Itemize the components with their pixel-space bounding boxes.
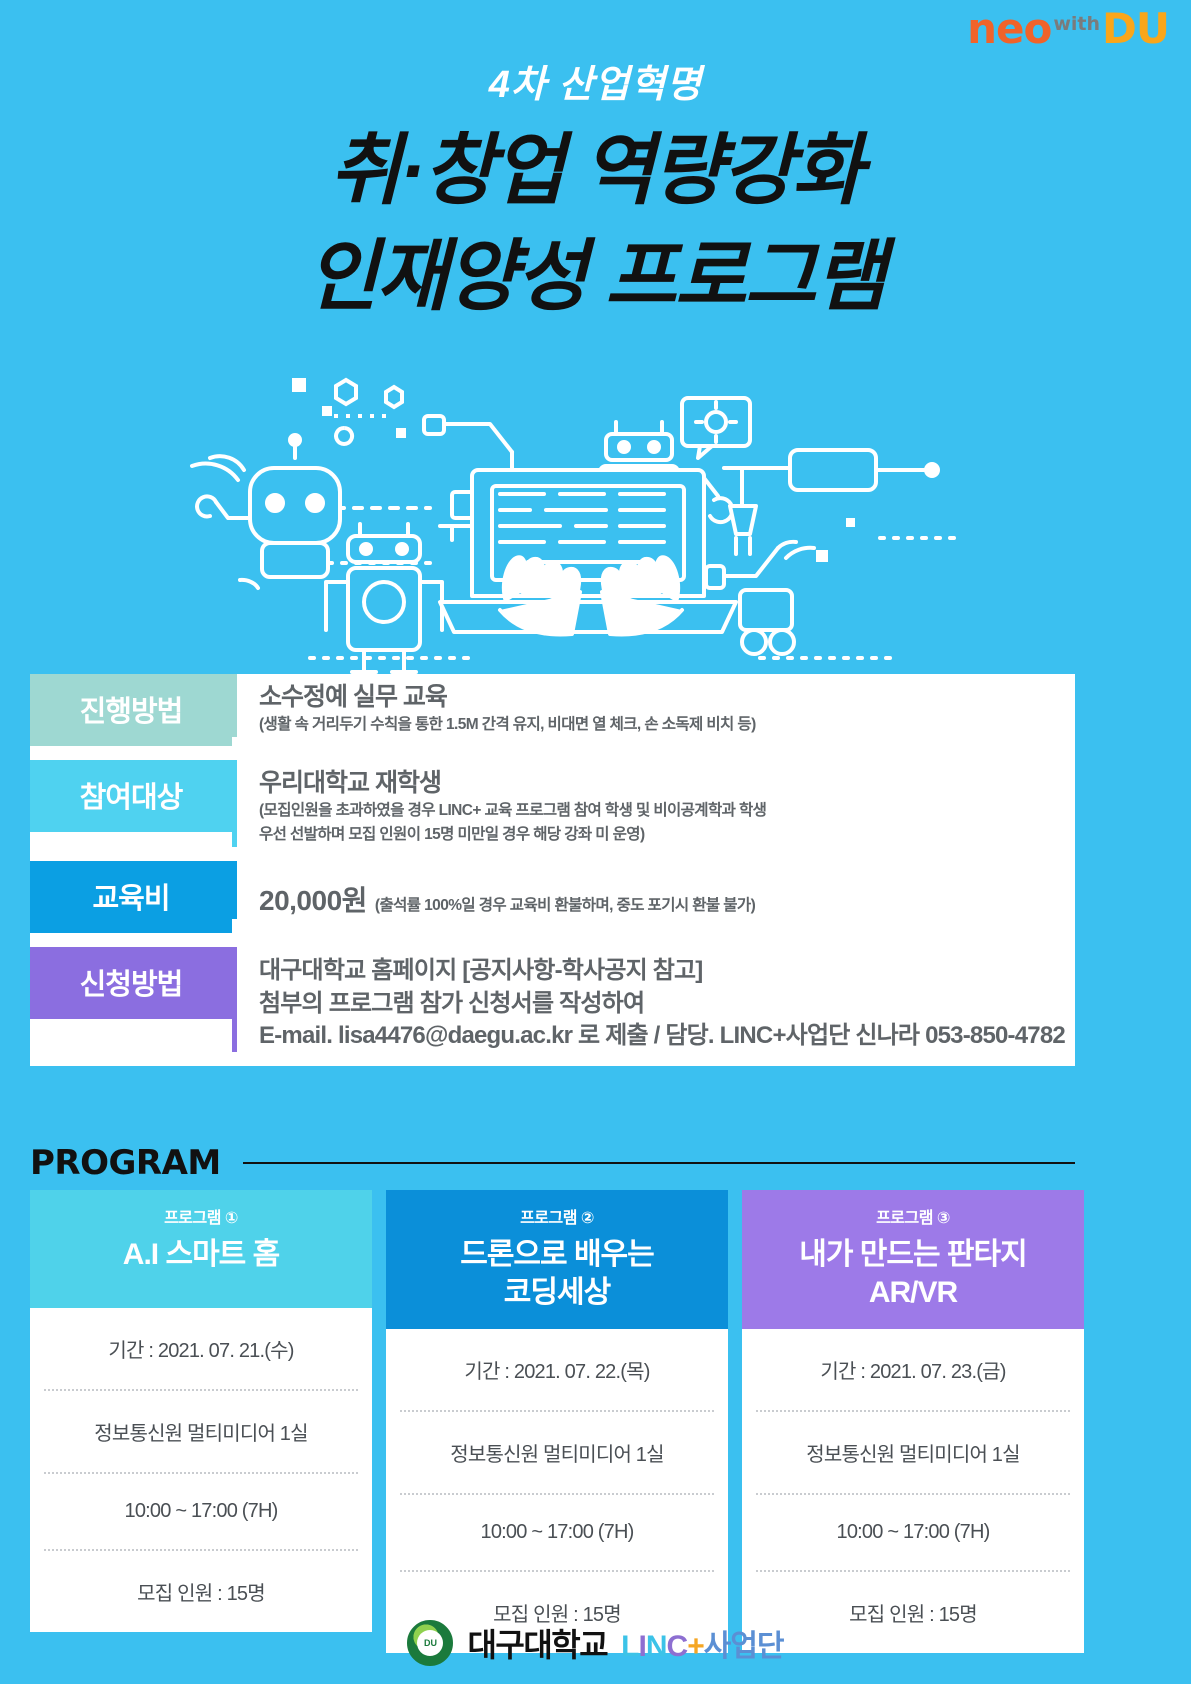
- program-card-2-title-line2: 코딩세상: [392, 1274, 722, 1312]
- info-label-target: 참여대상: [30, 760, 232, 832]
- program-heading: PROGRAM: [30, 1143, 221, 1183]
- logo-du-text: DU: [1102, 8, 1169, 50]
- info-title-target: 우리대학교 재학생: [259, 768, 1075, 799]
- neo-with-du-logo: neo with DU: [967, 8, 1169, 50]
- robotics-illustration: [0, 358, 1191, 678]
- info-title-method: 소수정예 실무 교육: [259, 682, 1075, 713]
- program-card-3-location: 정보통신원 멀티미디어 1실: [756, 1412, 1070, 1495]
- fee-line: 20,000원 (출석률 100%일 경우 교육비 환불하며, 중도 포기시 환…: [259, 879, 1075, 919]
- program-card-1-time: 10:00 ~ 17:00 (7H): [44, 1474, 358, 1551]
- footer-linc-logo: LINC+사업단: [621, 1621, 783, 1665]
- info-body-method: 소수정예 실무 교육 (생활 속 거리두기 수칙을 통한 1.5M 간격 유지,…: [232, 674, 1075, 737]
- program-card-1-head: 프로그램 ① A.I 스마트 홈: [30, 1190, 372, 1308]
- program-card-1-body: 기간 : 2021. 07. 21.(수) 정보통신원 멀티미디어 1실 10:…: [30, 1308, 372, 1632]
- poster-kicker: 4차 산업혁명: [0, 66, 1191, 104]
- program-card-2-location: 정보통신원 멀티미디어 1실: [400, 1412, 714, 1495]
- linc-letter-plus: +: [687, 1630, 704, 1663]
- info-row-target: 참여대상 우리대학교 재학생 (모집인원을 초과하였을 경우 LINC+ 교육 …: [30, 760, 1075, 847]
- row-spacer-3: [30, 933, 1075, 947]
- row-spacer-1: [30, 746, 1075, 760]
- footer-university-name: 대구대학교: [467, 1620, 607, 1666]
- program-card-2-time: 10:00 ~ 17:00 (7H): [400, 1495, 714, 1572]
- poster-headline-1: 취·창업 역량강화: [0, 130, 1191, 212]
- info-row-fee: 교육비 20,000원 (출석률 100%일 경우 교육비 환불하며, 중도 포…: [30, 861, 1075, 933]
- program-card-3-time: 10:00 ~ 17:00 (7H): [756, 1495, 1070, 1572]
- program-card-3-head: 프로그램 ③ 내가 만드는 판타지 AR/VR: [742, 1190, 1084, 1329]
- info-sub-target-1: (모집인원을 초과하였을 경우 LINC+ 교육 프로그램 참여 학생 및 비이…: [259, 799, 1075, 823]
- info-row-apply: 신청방법 대구대학교 홈페이지 [공지사항-학사공지 참고] 첨부의 프로그램 …: [30, 947, 1075, 1052]
- poster-headline-2: 인재양성 프로그램: [0, 236, 1191, 318]
- linc-letter-l: L: [621, 1630, 638, 1663]
- linc-letter-i: I: [639, 1630, 646, 1663]
- program-card-3-title: 내가 만드는 판타지 AR/VR: [748, 1236, 1078, 1311]
- linc-letter-n: N: [646, 1630, 667, 1663]
- program-card-2[interactable]: 프로그램 ② 드론으로 배우는 코딩세상 기간 : 2021. 07. 22.(…: [386, 1190, 728, 1653]
- fee-amount: 20,000원: [259, 879, 367, 919]
- info-body-fee: 20,000원 (출석률 100%일 경우 교육비 환불하며, 중도 포기시 환…: [232, 861, 1075, 919]
- info-label-method: 진행방법: [30, 674, 232, 746]
- daegu-university-emblem-icon: DU: [407, 1620, 453, 1666]
- apply-line-2: 첨부의 프로그램 참가 신청서를 작성하여: [259, 988, 1075, 1020]
- program-card-2-body: 기간 : 2021. 07. 22.(목) 정보통신원 멀티미디어 1실 10:…: [386, 1329, 728, 1653]
- program-card-2-title: 드론으로 배우는 코딩세상: [392, 1236, 722, 1311]
- logo-with-text: with: [1053, 15, 1100, 34]
- info-label-apply: 신청방법: [30, 947, 232, 1019]
- program-card-2-head: 프로그램 ② 드론으로 배우는 코딩세상: [386, 1190, 728, 1329]
- linc-korean-suffix: 사업단: [704, 1630, 784, 1663]
- program-card-3-title-line1: 내가 만드는 판타지: [748, 1236, 1078, 1274]
- program-card-1-tag: 프로그램 ①: [36, 1204, 366, 1228]
- program-divider: [243, 1162, 1075, 1164]
- logo-neo-text: neo: [967, 8, 1051, 50]
- apply-line-1: 대구대학교 홈페이지 [공지사항-학사공지 참고]: [259, 955, 1075, 987]
- info-panel: 진행방법 소수정예 실무 교육 (생활 속 거리두기 수칙을 통한 1.5M 간…: [30, 674, 1075, 1066]
- info-body-target: 우리대학교 재학생 (모집인원을 초과하였을 경우 LINC+ 교육 프로그램 …: [232, 760, 1075, 847]
- program-card-3-tag: 프로그램 ③: [748, 1204, 1078, 1228]
- apply-line-email[interactable]: E-mail. lisa4476@daegu.ac.kr 로 제출 / 담당. …: [259, 1020, 1075, 1052]
- info-row-method: 진행방법 소수정예 실무 교육 (생활 속 거리두기 수칙을 통한 1.5M 간…: [30, 674, 1075, 746]
- emblem-inner: DU: [417, 1630, 443, 1656]
- program-card-1-title: A.I 스마트 홈: [36, 1236, 366, 1274]
- info-body-apply: 대구대학교 홈페이지 [공지사항-학사공지 참고] 첨부의 프로그램 참가 신청…: [232, 947, 1075, 1052]
- program-card-2-title-line1: 드론으로 배우는: [392, 1236, 722, 1274]
- info-label-fee: 교육비: [30, 861, 232, 933]
- row-spacer-2: [30, 847, 1075, 861]
- program-card-3[interactable]: 프로그램 ③ 내가 만드는 판타지 AR/VR 기간 : 2021. 07. 2…: [742, 1190, 1084, 1653]
- program-card-3-body: 기간 : 2021. 07. 23.(금) 정보통신원 멀티미디어 1실 10:…: [742, 1329, 1084, 1653]
- program-card-3-period: 기간 : 2021. 07. 23.(금): [756, 1329, 1070, 1412]
- program-card-2-tag: 프로그램 ②: [392, 1204, 722, 1228]
- info-sub-target-2: 우선 선발하며 모집 인원이 15명 미만일 경우 해당 강좌 미 운영): [259, 823, 1075, 847]
- program-card-3-title-line2: AR/VR: [748, 1274, 1078, 1312]
- program-card-1-location: 정보통신원 멀티미디어 1실: [44, 1391, 358, 1474]
- program-card-2-period: 기간 : 2021. 07. 22.(목): [400, 1329, 714, 1412]
- program-section-header: PROGRAM: [30, 1143, 1075, 1183]
- fee-note: (출석률 100%일 경우 교육비 환불하며, 중도 포기시 환불 불가): [375, 894, 755, 918]
- program-cards: 프로그램 ① A.I 스마트 홈 기간 : 2021. 07. 21.(수) 정…: [30, 1190, 1160, 1653]
- info-sub-method-1: (생활 속 거리두기 수칙을 통한 1.5M 간격 유지, 비대면 열 체크, …: [259, 713, 1075, 737]
- footer-logos: DU 대구대학교 LINC+사업단: [0, 1620, 1191, 1666]
- linc-letter-c: C: [667, 1630, 688, 1663]
- program-card-1[interactable]: 프로그램 ① A.I 스마트 홈 기간 : 2021. 07. 21.(수) 정…: [30, 1190, 372, 1653]
- program-card-1-period: 기간 : 2021. 07. 21.(수): [44, 1308, 358, 1391]
